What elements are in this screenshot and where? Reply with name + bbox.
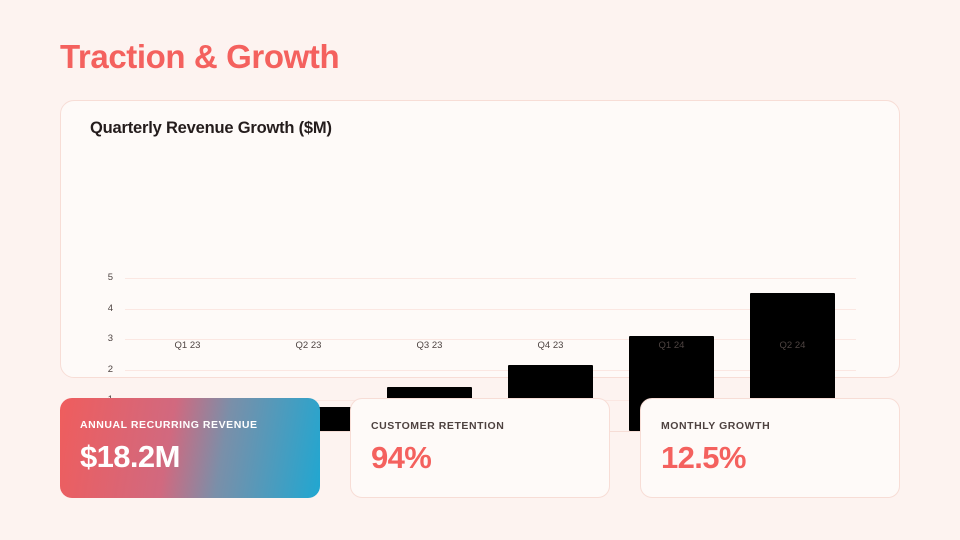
x-tick-label: Q4 23	[508, 340, 593, 351]
kpi-label: ANNUAL RECURRING REVENUE	[80, 419, 258, 431]
x-tick-label: Q1 24	[629, 340, 714, 351]
bar-chart-plot: 5 4 3 2 1 0 Q1 23 Q2 23 Q3 23 Q4 23 Q1 2…	[61, 101, 901, 379]
gridline-2	[125, 370, 856, 371]
x-tick-label: Q2 24	[750, 340, 835, 351]
y-tick-label: 5	[73, 272, 113, 283]
x-tick-label: Q3 23	[387, 340, 472, 351]
kpi-label: MONTHLY GROWTH	[661, 420, 770, 432]
y-tick-label: 3	[73, 333, 113, 344]
kpi-label: CUSTOMER RETENTION	[371, 420, 504, 432]
gridline-3	[125, 339, 856, 340]
x-tick-label: Q1 23	[145, 340, 230, 351]
y-tick-label: 2	[73, 364, 113, 375]
x-tick-label: Q2 23	[266, 340, 351, 351]
kpi-card-annual-recurring-revenue: ANNUAL RECURRING REVENUE $18.2M	[60, 398, 320, 498]
kpi-value: $18.2M	[80, 436, 180, 478]
kpi-card-customer-retention: CUSTOMER RETENTION 94%	[350, 398, 610, 498]
kpi-card-monthly-growth: MONTHLY GROWTH 12.5%	[640, 398, 900, 498]
kpi-value: 94%	[371, 437, 431, 479]
page-title: Traction & Growth	[60, 36, 339, 78]
gridline-4	[125, 309, 856, 310]
y-tick-label: 4	[73, 303, 113, 314]
gridline-5	[125, 278, 856, 279]
kpi-value: 12.5%	[661, 437, 746, 479]
chart-card: Quarterly Revenue Growth ($M) 5 4 3 2 1 …	[60, 100, 900, 378]
